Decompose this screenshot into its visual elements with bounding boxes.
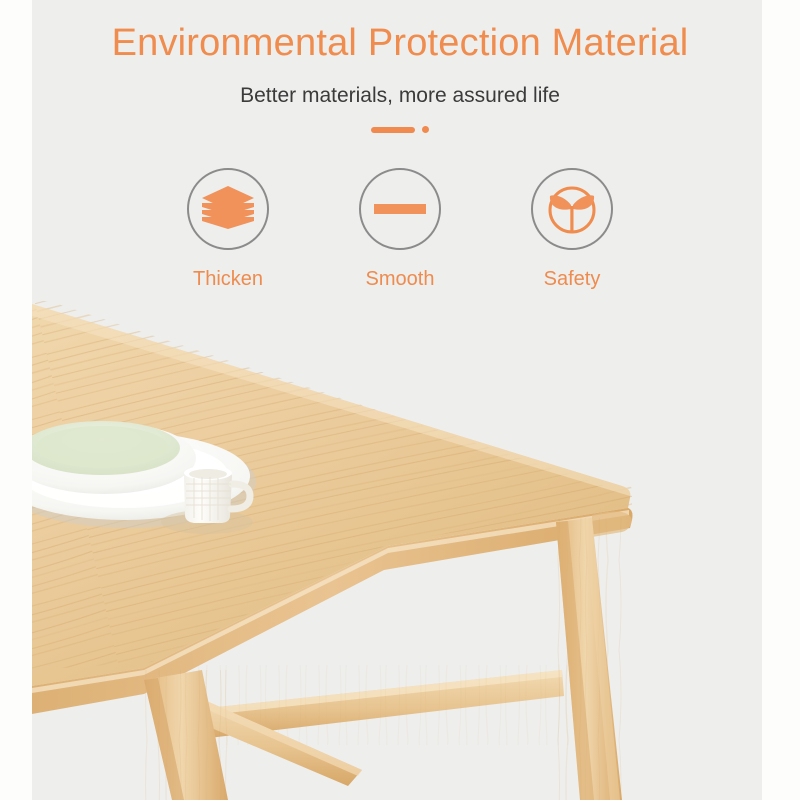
layer-stack-icon	[200, 184, 256, 234]
horizontal-bar-icon	[372, 184, 428, 234]
sprout-leaf-circle-icon	[544, 181, 600, 237]
page-title: Environmental Protection Material	[0, 22, 800, 65]
table-scene	[32, 290, 762, 800]
divider-bar-icon	[371, 127, 415, 133]
feature-label: Thicken	[193, 268, 263, 291]
feature-smooth[interactable]: Smooth	[347, 168, 453, 291]
feature-list: Thicken Smooth	[0, 168, 800, 291]
divider	[0, 126, 800, 133]
feature-label: Safety	[544, 268, 601, 291]
feature-icon-circle	[359, 168, 441, 250]
promo-header: Environmental Protection Material Better…	[0, 0, 800, 310]
divider-dot-icon	[422, 126, 429, 133]
feature-label: Smooth	[366, 268, 435, 291]
feature-thicken[interactable]: Thicken	[175, 168, 281, 291]
page-subtitle: Better materials, more assured life	[0, 84, 800, 108]
product-detail-page: Environmental Protection Material Better…	[0, 0, 800, 800]
product-photo	[32, 290, 762, 800]
feature-icon-circle	[531, 168, 613, 250]
feature-icon-circle	[187, 168, 269, 250]
feature-safety[interactable]: Safety	[519, 168, 625, 291]
